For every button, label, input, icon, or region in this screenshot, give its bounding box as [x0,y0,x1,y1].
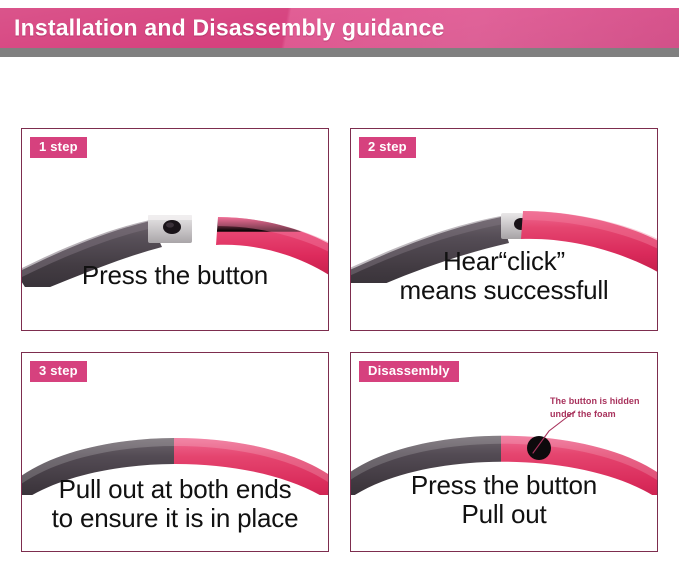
metal-connector-highlight [148,215,192,220]
step-badge-disassembly: Disassembly [359,361,459,382]
panel-step-2: 2 step [350,128,658,331]
step-badge-2: 2 step [359,137,416,158]
header-underbar [0,48,679,57]
annotation-button-hidden: The button is hidden under the foam [550,395,640,421]
panel-step-1: 1 step [21,128,329,331]
panel-disassembly: Disassembly [350,352,658,552]
panel-step-3: 3 step [21,352,329,552]
steps-grid: 1 step [21,128,658,552]
step-badge-3: 3 step [30,361,87,382]
caption-disassembly: Press the button Pull out [351,471,657,529]
page-title: Installation and Disassembly guidance [14,15,444,42]
spring-button-gloss [166,222,174,227]
step-badge-1: 1 step [30,137,87,158]
header-banner: Installation and Disassembly guidance [0,8,679,48]
caption-step-1: Press the button [22,261,328,290]
caption-step-2: Hear“click” means successfull [351,247,657,305]
caption-step-3: Pull out at both ends to ensure it is in… [22,475,328,533]
